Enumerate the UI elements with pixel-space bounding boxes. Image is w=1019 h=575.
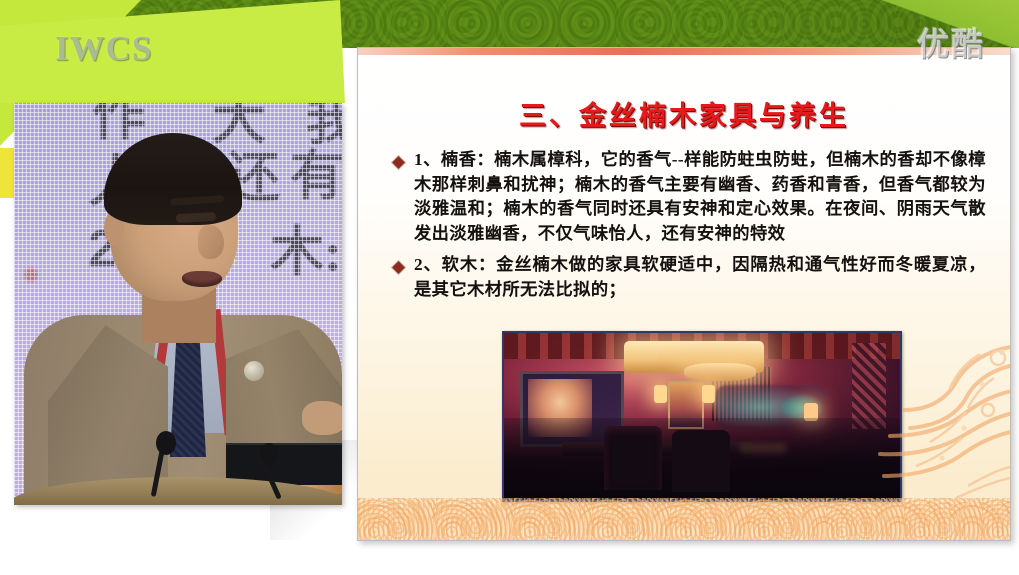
speaker-video-panel: 作 大 我 人 还 有 2 木: (14, 103, 342, 505)
video-player-frame: IWCS 优酷 作 大 我 人 还 有 2 木: (0, 0, 1019, 575)
diamond-bullet-icon (392, 261, 405, 274)
bottom-white-bar (0, 540, 1019, 575)
photo-carved-chair-1 (604, 426, 662, 490)
photo-chandelier-lower (684, 363, 756, 381)
chinese-furniture-showroom-photo (502, 331, 902, 502)
bullet-text-1: 1、楠香：楠木属樟科，它的香气--样能防蛀虫防蛀，但楠木的香却不像樟木那样刺鼻和… (414, 148, 986, 247)
slide-title: 三、金丝楠木家具与养生 (358, 94, 1010, 133)
speaker-mouth (182, 271, 222, 287)
slide-top-accent-line (358, 48, 1010, 55)
slide-bullet-list: 1、楠香：楠木属樟科，它的香气--样能防蛀虫防蛀，但楠木的香却不像樟木那样刺鼻和… (394, 148, 986, 308)
microphone-head-left (156, 431, 176, 455)
second-person-hand (302, 401, 342, 435)
youku-watermark: 优酷 (917, 28, 985, 60)
list-item: 2、软木：金丝楠木做的家具软硬适中，因隔热和通气性好而冬暖夏凉，是其它木材所无法… (394, 253, 986, 302)
dragon-motif (870, 318, 1011, 518)
photo-wall-lamp-right (702, 385, 715, 403)
list-item: 1、楠香：楠木属樟科，它的香气--样能防蛀虫防蛀，但楠木的香却不像樟木那样刺鼻和… (394, 148, 986, 247)
iwcs-logo: IWCS (55, 31, 152, 66)
presentation-slide: 三、金丝楠木家具与养生 1、楠香：楠木属樟科，它的香气--样能防蛀虫防蛀，但楠木… (357, 47, 1011, 541)
speaker-lapel-pin (244, 361, 264, 381)
photo-wall-lamp-left (654, 385, 667, 403)
microphone-head-right (260, 443, 278, 465)
bullet-text-2: 2、软木：金丝楠木做的家具软硬适中，因隔热和通气性好而冬暖夏凉，是其它木材所无法… (414, 253, 986, 302)
left-white-margin (0, 200, 14, 575)
speaker-nose (198, 225, 224, 259)
diamond-bullet-icon (392, 156, 405, 169)
photo-carved-chair-2 (672, 430, 730, 492)
